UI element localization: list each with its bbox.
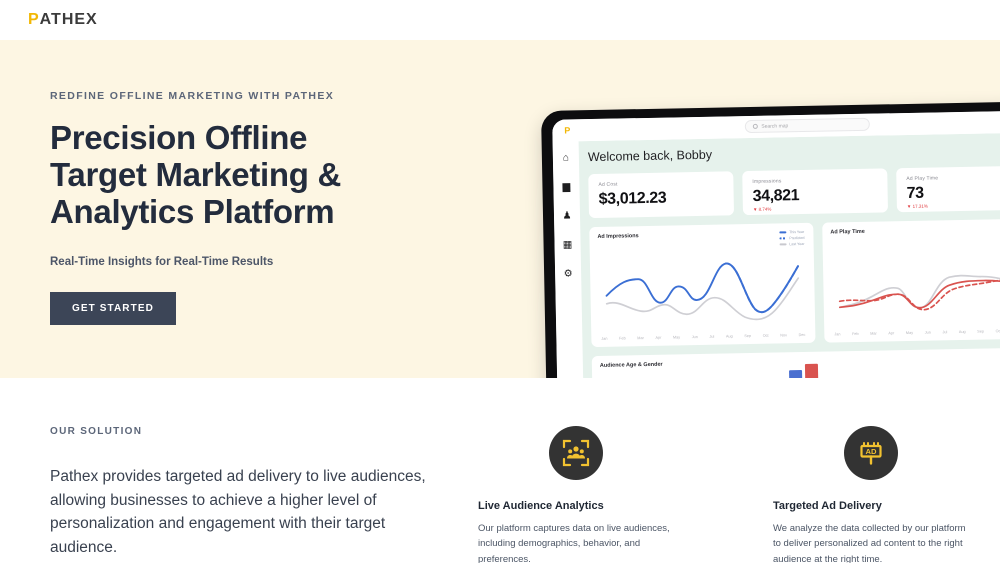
home-icon[interactable]: ⌂ xyxy=(563,153,569,163)
feature-list: Live Audience Analytics Our platform cap… xyxy=(478,426,968,563)
hero-section: REDFINE OFFLINE MARKETING WITH PATHEX Pr… xyxy=(0,40,1000,378)
stat-label: Ad Play Time xyxy=(906,174,1000,182)
welcome-message: Welcome back, Bobby xyxy=(588,141,1000,164)
legend-label: This Year xyxy=(789,230,804,234)
x-tick: Jul xyxy=(942,330,947,334)
line-chart-svg xyxy=(598,240,808,330)
x-tick: Oct xyxy=(996,329,1000,333)
ad-play-time-chart: Jan Feb Mar Apr May Jun Jul Aug Sep xyxy=(831,235,1000,336)
x-tick: Feb xyxy=(619,336,626,340)
x-tick: Jan xyxy=(601,337,607,341)
audience-age-gender-panel: Audience Age & Gender xyxy=(592,347,1000,378)
stat-delta: ▼ 8.74% xyxy=(753,205,878,212)
solution-eyebrow: OUR SOLUTION xyxy=(50,426,450,437)
x-tick: Feb xyxy=(852,332,859,336)
x-tick: Jun xyxy=(692,335,698,339)
chart-x-axis: Jan Feb Mar Apr May Jun Jul Aug Sep xyxy=(599,333,807,341)
solution-body: Pathex provides targeted ad delivery to … xyxy=(50,465,450,559)
top-navigation: PATHEX xyxy=(0,0,1000,40)
line-chart-svg xyxy=(831,235,1000,325)
x-tick: Oct xyxy=(763,334,769,338)
x-tick: Jul xyxy=(709,335,714,339)
brand-logo[interactable]: PATHEX xyxy=(28,11,98,29)
stat-card: Ad Play Time 73 ▼ 17.31% xyxy=(896,165,1000,212)
solution-copy: OUR SOLUTION Pathex provides targeted ad… xyxy=(50,426,450,559)
dashboard-body: ⌂ ▆ ♟ ▦ ⚙ Welcome back, Bobby Ad Cost $3… xyxy=(553,132,1000,378)
legend-item: This Year xyxy=(779,230,804,234)
x-tick: Aug xyxy=(959,330,966,334)
get-started-button[interactable]: GET STARTED xyxy=(50,292,176,325)
hero-copy: REDFINE OFFLINE MARKETING WITH PATHEX Pr… xyxy=(50,90,470,325)
svg-text:AD: AD xyxy=(865,447,876,456)
bar-chart-icon[interactable]: ▆ xyxy=(563,182,571,192)
users-icon[interactable]: ♟ xyxy=(562,211,571,221)
solution-section: OUR SOLUTION Pathex provides targeted ad… xyxy=(0,378,1000,563)
feature-title: Targeted Ad Delivery xyxy=(773,500,968,512)
x-tick: Apr xyxy=(888,331,894,335)
stat-label: Impressions xyxy=(752,177,877,185)
brand-logo-initial: P xyxy=(28,11,40,29)
feature-description: Our platform captures data on live audie… xyxy=(478,521,673,563)
feature-title: Live Audience Analytics xyxy=(478,500,673,512)
x-tick: May xyxy=(673,335,680,339)
headline-line-2: Target Marketing & xyxy=(50,156,341,193)
dashboard-content: Welcome back, Bobby Ad Cost $3,012.23 Im… xyxy=(579,132,1000,378)
ad-play-time-panel: Ad Play Time Jan Feb xyxy=(822,218,1000,342)
feature-description: We analyze the data collected by our pla… xyxy=(773,521,968,563)
x-tick: Dec xyxy=(799,333,806,337)
stat-value: 73 xyxy=(906,183,1000,203)
brand-logo-text: ATHEX xyxy=(40,11,98,29)
legend-swatch xyxy=(779,232,786,234)
search-input[interactable]: Search map xyxy=(744,118,869,133)
stat-label: Ad Cost xyxy=(598,180,723,188)
ad-billboard-icon: AD xyxy=(844,426,898,480)
x-tick: May xyxy=(906,331,913,335)
x-tick: Apr xyxy=(655,336,661,340)
ad-impressions-chart: Jan Feb Mar Apr May Jun Jul Aug Sep xyxy=(598,240,808,341)
x-tick: Nov xyxy=(780,333,787,337)
bar xyxy=(789,370,802,378)
dashboard-logo: P xyxy=(564,125,570,135)
feature-card: AD Targeted Ad Delivery We analyze the d… xyxy=(773,426,968,563)
hero-eyebrow: REDFINE OFFLINE MARKETING WITH PATHEX xyxy=(50,90,470,102)
chart-x-axis: Jan Feb Mar Apr May Jun Jul Aug Sep xyxy=(832,328,1000,336)
bar xyxy=(805,364,819,378)
x-tick: Mar xyxy=(870,332,877,336)
x-tick: Sep xyxy=(744,334,751,338)
hero-subhead: Real-Time Insights for Real-Time Results xyxy=(50,256,470,268)
stat-card-row: Ad Cost $3,012.23 Impressions 34,821 ▼ 8… xyxy=(588,165,1000,218)
landing-page: PATHEX REDFINE OFFLINE MARKETING WITH PA… xyxy=(0,0,1000,563)
stat-value: 34,821 xyxy=(753,186,878,206)
stat-value: $3,012.23 xyxy=(599,189,724,209)
search-icon xyxy=(752,124,757,129)
chart-panel-row: Ad Impressions This Year Predicted xyxy=(589,218,1000,347)
feature-card: Live Audience Analytics Our platform cap… xyxy=(478,426,673,563)
audience-scan-icon xyxy=(549,426,603,480)
search-placeholder: Search map xyxy=(761,123,788,130)
ad-impressions-panel: Ad Impressions This Year Predicted xyxy=(589,223,815,347)
grid-icon[interactable]: ▦ xyxy=(563,240,573,250)
x-tick: Jan xyxy=(834,332,840,336)
gear-icon[interactable]: ⚙ xyxy=(564,269,573,279)
legend-swatch xyxy=(779,238,786,240)
headline-line-1: Precision Offline xyxy=(50,119,307,156)
panel-title: Ad Impressions xyxy=(597,230,805,240)
x-tick: Sep xyxy=(977,330,984,334)
headline-line-3: Analytics Platform xyxy=(50,193,334,230)
dashboard-screen: P Search map ⌂ ▆ ♟ ▦ ⚙ xyxy=(552,110,1000,378)
x-tick: Mar xyxy=(637,336,644,340)
hero-headline: Precision Offline Target Marketing & Ana… xyxy=(50,120,470,231)
stat-card: Ad Cost $3,012.23 xyxy=(588,171,734,218)
panel-title: Ad Play Time xyxy=(830,225,1000,235)
stat-card: Impressions 34,821 ▼ 8.74% xyxy=(742,168,888,215)
x-tick: Aug xyxy=(726,334,733,338)
x-tick: Jun xyxy=(925,331,931,335)
tablet-device-mockup: P Search map ⌂ ▆ ♟ ▦ ⚙ xyxy=(541,101,1000,378)
